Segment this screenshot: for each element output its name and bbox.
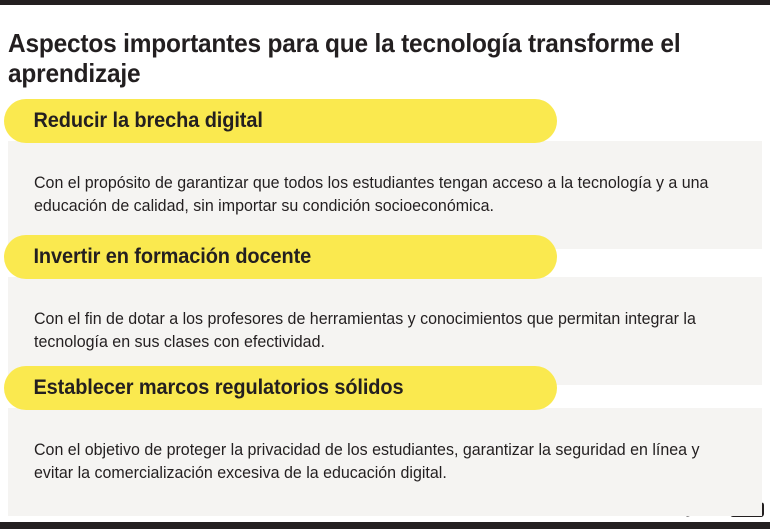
section-establecer-marcos-regulatorios-solidos: Establecer marcos regulatorios sólidos C… <box>0 366 770 516</box>
footer-rule-divider <box>0 522 770 529</box>
section-heading-label: Reducir la brecha digital <box>4 109 263 133</box>
section-body-block: Con el objetivo de proteger la privacida… <box>8 408 762 516</box>
section-reducir-la-brecha-digital: Reducir la brecha digital Con el propósi… <box>0 99 770 249</box>
infographic-root: Aspectos importantes para que la tecnolo… <box>0 0 770 529</box>
section-body-block: Con el propósito de garantizar que todos… <box>8 141 762 249</box>
page-title: Aspectos importantes para que la tecnolo… <box>8 29 711 87</box>
section-heading-label: Establecer marcos regulatorios sólidos <box>4 376 403 400</box>
section-body-text: Con el propósito de garantizar que todos… <box>34 172 729 219</box>
section-heading-banner: Reducir la brecha digital <box>4 99 557 143</box>
section-body-text: Con el fin de dotar a los profesores de … <box>34 308 729 355</box>
section-body-text: Con el objetivo de proteger la privacida… <box>34 439 729 486</box>
section-heading-banner: Invertir en formación docente <box>4 235 557 279</box>
section-invertir-en-formacion-docente: Invertir en formación docente Con el fin… <box>0 235 770 385</box>
section-heading-label: Invertir en formación docente <box>4 245 311 269</box>
section-heading-banner: Establecer marcos regulatorios sólidos <box>4 366 557 410</box>
top-rule-divider <box>0 0 770 5</box>
